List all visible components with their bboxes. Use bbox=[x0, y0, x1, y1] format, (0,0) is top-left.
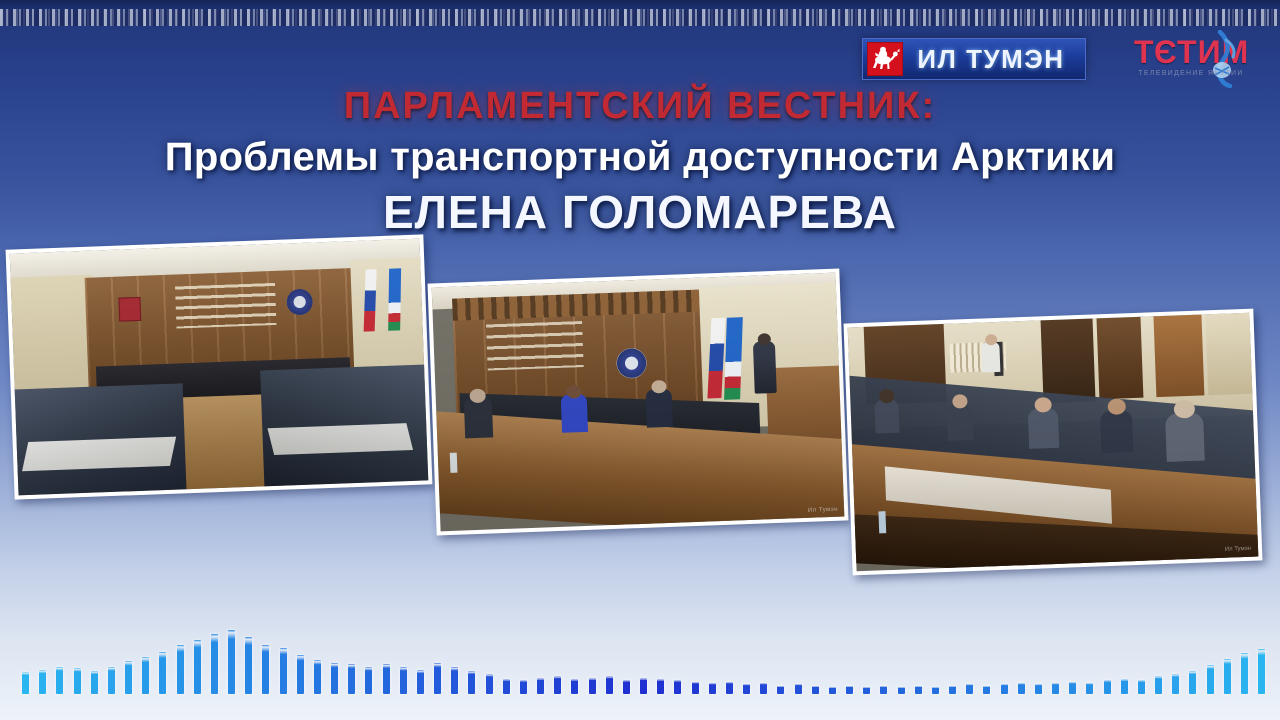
delegate-4 bbox=[1100, 410, 1134, 453]
sakha-flag-icon bbox=[388, 268, 401, 331]
waveform-bar bbox=[657, 679, 664, 694]
waveform-bar bbox=[537, 678, 544, 694]
waveform-bar bbox=[1258, 649, 1265, 694]
sakha-flag-icon bbox=[724, 318, 743, 401]
waveform-bar bbox=[91, 671, 98, 694]
waveform-bar bbox=[709, 683, 716, 694]
waveform-bar bbox=[194, 640, 201, 694]
waveform-bar bbox=[726, 682, 733, 694]
waveform-bar bbox=[451, 667, 458, 694]
il-tumen-logo[interactable]: ИЛ ТУМЭН bbox=[862, 38, 1086, 80]
waveform-bar bbox=[966, 684, 973, 694]
delegate-2 bbox=[947, 403, 974, 440]
waveform-bar bbox=[383, 664, 390, 694]
door-right-1 bbox=[1097, 317, 1144, 399]
waveform-bar bbox=[1086, 683, 1093, 694]
waveform-bar bbox=[520, 680, 527, 694]
waveform-bar bbox=[245, 637, 252, 694]
waveform-bar bbox=[932, 687, 939, 694]
waveform-bar bbox=[1241, 653, 1248, 694]
title-block: ПАРЛАМЕНТСКИЙ ВЕСТНИК: Проблемы транспор… bbox=[0, 86, 1280, 240]
waveform-bar bbox=[486, 674, 493, 694]
waveform-bar bbox=[211, 634, 218, 694]
photo-watermark: Ил Тумэн bbox=[1225, 546, 1251, 553]
waveform-bar bbox=[1155, 676, 1162, 694]
photo-watermark: Ил Тумэн bbox=[808, 507, 838, 514]
waveform-bar bbox=[1052, 683, 1059, 694]
door-middle bbox=[1040, 318, 1095, 403]
waveform-bar bbox=[743, 684, 750, 694]
waveform-bar bbox=[949, 686, 956, 694]
waveform-bar bbox=[262, 645, 269, 694]
waveform-bar bbox=[554, 676, 561, 694]
photo-parliament-hall-wide[interactable] bbox=[6, 234, 433, 499]
waveform-bar bbox=[606, 676, 613, 694]
photo-cascade: Ил Тумэн bbox=[0, 228, 1280, 598]
waveform-bar bbox=[983, 686, 990, 694]
waveform-bar bbox=[159, 652, 166, 694]
waveform-bar bbox=[434, 663, 441, 694]
waveform-bar bbox=[39, 670, 46, 694]
waveform-bar bbox=[915, 686, 922, 694]
waveform-bar bbox=[228, 630, 235, 694]
program-kicker: ПАРЛАМЕНТСКИЙ ВЕСТНИК: bbox=[0, 86, 1280, 126]
tetim-letter-2: Э bbox=[1153, 35, 1177, 69]
tetim-letter-1: Т bbox=[1133, 35, 1154, 69]
waveform-bar bbox=[74, 668, 81, 694]
water-bottle bbox=[879, 512, 887, 534]
photo-presidium-speaker[interactable]: Ил Тумэн bbox=[428, 269, 849, 536]
russian-coat-of-arms-icon bbox=[118, 297, 141, 322]
wall-right bbox=[1205, 313, 1252, 395]
waveform-bar bbox=[623, 680, 630, 694]
waveform-bar bbox=[692, 682, 699, 694]
waveform-bar bbox=[1121, 679, 1128, 694]
waveform-bar bbox=[1001, 684, 1008, 694]
waveform-bar bbox=[1172, 674, 1179, 694]
tetim-tagline: ТЕЛЕВИДЕНИЕ ЯКУТИИ bbox=[1108, 70, 1274, 77]
waveform-bar bbox=[846, 686, 853, 694]
tetim-wordmark: ТЭТИМ bbox=[1108, 35, 1274, 69]
broadcast-lower-third-frame: ИЛ ТУМЭН ТЭТИМ ТЕЛЕВИДЕНИЕ ЯКУТИИ ПАРЛАМ… bbox=[0, 0, 1280, 720]
waveform-bar bbox=[297, 655, 304, 694]
papers-left bbox=[22, 436, 176, 471]
papers-right bbox=[268, 423, 414, 454]
waveform-bar bbox=[365, 667, 372, 694]
il-tumen-label: ИЛ ТУМЭН bbox=[903, 39, 1085, 79]
waveform-bar bbox=[348, 664, 355, 694]
waveform-bar bbox=[795, 684, 802, 694]
waveform-bar bbox=[829, 687, 836, 694]
program-topic: Проблемы транспортной доступности Арктик… bbox=[0, 132, 1280, 182]
waveform-bar bbox=[1207, 665, 1214, 694]
delegate-5 bbox=[1165, 412, 1205, 461]
stylized-blue-ribbon-icon bbox=[1200, 30, 1246, 88]
waveform-bar bbox=[674, 680, 681, 694]
waveform-bar bbox=[1138, 680, 1145, 694]
presidium-person-3 bbox=[646, 389, 673, 428]
tetim-letter-3: Т bbox=[1177, 34, 1198, 70]
russian-flag-icon bbox=[363, 269, 376, 332]
waveform-bar bbox=[760, 683, 767, 694]
audio-waveform[interactable] bbox=[0, 610, 1280, 720]
water-bottle bbox=[450, 453, 458, 473]
waveform-bar bbox=[1069, 682, 1076, 694]
waveform-bar bbox=[898, 687, 905, 694]
sakha-horseman-emblem-icon bbox=[867, 42, 903, 76]
yakut-ornament-band-icon bbox=[0, 9, 1280, 26]
waveform-bar bbox=[1018, 683, 1025, 694]
wall-inscription bbox=[486, 321, 584, 370]
waveform-bar bbox=[142, 657, 149, 694]
waveform-bar bbox=[1189, 671, 1196, 694]
waveform-bar bbox=[108, 667, 115, 694]
tetim-logo[interactable]: ТЭТИМ ТЕЛЕВИДЕНИЕ ЯКУТИИ bbox=[1108, 32, 1274, 88]
presidium-person-2 bbox=[561, 394, 588, 433]
waveform-bar bbox=[1035, 684, 1042, 694]
waveform-bar bbox=[400, 667, 407, 694]
photo-delegates-row[interactable]: Ил Тумэн bbox=[844, 309, 1263, 576]
waveform-bar bbox=[812, 686, 819, 694]
waveform-bar bbox=[125, 661, 132, 694]
waveform-bar bbox=[468, 671, 475, 694]
cameraman bbox=[981, 341, 1000, 372]
waveform-bar bbox=[314, 660, 321, 694]
waveform-bar bbox=[417, 670, 424, 694]
wall-inscription bbox=[175, 283, 276, 329]
door-right-2 bbox=[1153, 314, 1204, 396]
waveform-bar bbox=[863, 687, 870, 694]
waveform-bar bbox=[1104, 680, 1111, 694]
waveform-bar bbox=[777, 686, 784, 694]
delegate-1 bbox=[874, 399, 899, 434]
delegate-3 bbox=[1028, 408, 1059, 449]
waveform-bar bbox=[177, 645, 184, 694]
waveform-bar bbox=[589, 678, 596, 694]
waveform-bar bbox=[503, 679, 510, 694]
waveform-bar bbox=[56, 667, 63, 694]
waveform-bar bbox=[331, 663, 338, 694]
waveform-bar bbox=[22, 672, 29, 694]
waveform-bar bbox=[280, 648, 287, 694]
waveform-bar bbox=[880, 686, 887, 694]
waveform-bar bbox=[571, 679, 578, 694]
presidium-person-1 bbox=[464, 398, 493, 439]
logo-row: ИЛ ТУМЭН ТЭТИМ ТЕЛЕВИДЕНИЕ ЯКУТИИ bbox=[856, 32, 1276, 88]
waveform-bar bbox=[1224, 659, 1231, 694]
speaker-at-rostrum bbox=[753, 341, 777, 394]
waveform-bar bbox=[640, 678, 647, 694]
